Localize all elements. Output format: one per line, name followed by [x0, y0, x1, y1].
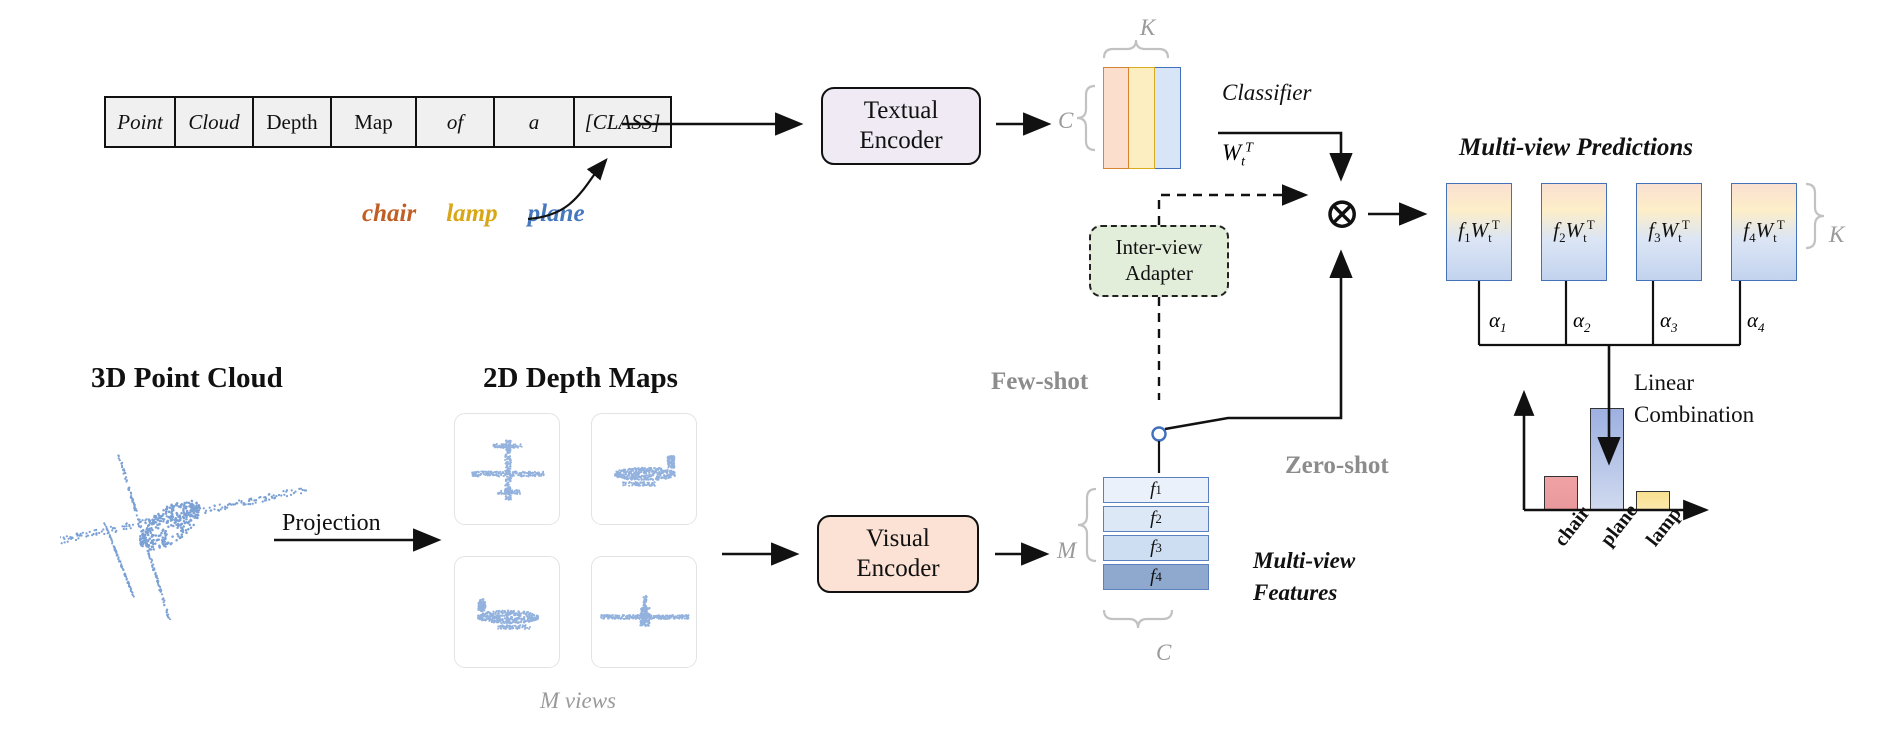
inter-view-adapter-box[interactable]: Inter-view Adapter: [1089, 225, 1229, 297]
multiview-predictions-title: Multi-view Predictions: [1459, 134, 1693, 162]
feature-row-4-sub: 4: [1155, 569, 1162, 585]
visual-encoder-line2: Encoder: [856, 554, 939, 585]
features-dim-m: M: [1057, 538, 1076, 564]
weight-sub: t: [1241, 155, 1245, 170]
textual-encoder-line2: Encoder: [859, 126, 942, 157]
prediction-bar-chart: chair plane lamp: [1524, 390, 1694, 510]
tensor-product-icon: ⊗: [1320, 192, 1364, 236]
depth-maps-heading: 2D Depth Maps: [483, 362, 678, 395]
classifier-dim-c: C: [1058, 108, 1073, 134]
prompt-token-5: a: [495, 98, 575, 146]
features-dim-c: C: [1156, 640, 1171, 666]
weight-sup: T: [1245, 140, 1253, 155]
depth-map-tile-4: [591, 556, 697, 668]
adapter-line1: Inter-view: [1115, 235, 1202, 261]
prompt-token-4: of: [417, 98, 495, 146]
prediction-box-4: f4WtT: [1731, 183, 1797, 281]
m-views-label: M views: [540, 688, 616, 714]
prediction-box-3: f3WtT: [1636, 183, 1702, 281]
pred-3-wsub: t: [1678, 231, 1682, 246]
bar-tick-lamp: lamp: [1642, 503, 1687, 551]
pred-2-w: W: [1566, 218, 1584, 242]
prediction-box-1: f1WtT: [1446, 183, 1512, 281]
features-title-line2: Features: [1253, 580, 1337, 606]
classifier-matrix: [1103, 67, 1181, 169]
visual-encoder-box[interactable]: Visual Encoder: [817, 515, 979, 593]
class-word-chair: chair: [362, 200, 416, 228]
pred-3-w: W: [1661, 218, 1679, 242]
prompt-token-table: Point Cloud Depth Map of a [CLASS]: [104, 96, 672, 148]
textual-encoder-line1: Textual: [864, 96, 939, 127]
figure-canvas: Point Cloud Depth Map of a [CLASS] chair…: [0, 0, 1882, 746]
prompt-token-1: Cloud: [176, 98, 254, 146]
depth-map-tile-1: [454, 413, 560, 525]
few-shot-label: Few-shot: [991, 368, 1088, 396]
classifier-weight-label: WtT: [1222, 140, 1253, 171]
adapter-line2: Adapter: [1125, 261, 1193, 287]
bar-chair: [1544, 476, 1578, 510]
feature-row-2-sub: 2: [1155, 511, 1162, 527]
feature-row-1: f1: [1103, 477, 1209, 503]
predictions-dim-k: K: [1829, 222, 1844, 248]
class-word-lamp: lamp: [446, 200, 497, 228]
multiview-feature-stack: f1 f2 f3 f4: [1103, 477, 1209, 593]
depth-map-tile-2: [591, 413, 697, 525]
classifier-column-lamp: [1129, 67, 1155, 169]
prompt-token-2: Depth: [254, 98, 332, 146]
feature-row-1-sub: 1: [1155, 482, 1162, 498]
feature-row-2: f2: [1103, 506, 1209, 532]
alpha-label-1: α1: [1489, 308, 1507, 336]
pred-1-w: W: [1471, 218, 1489, 242]
bar-plane: [1590, 408, 1624, 510]
pred-2-wsup: T: [1587, 217, 1595, 232]
classifier-column-plane: [1155, 67, 1181, 169]
pred-1-wsub: t: [1488, 231, 1492, 246]
class-word-list: chair lamp plane: [362, 200, 585, 228]
pred-4-w: W: [1756, 218, 1774, 242]
prediction-box-2: f2WtT: [1541, 183, 1607, 281]
feature-row-3: f3: [1103, 535, 1209, 561]
alpha-label-4: α4: [1747, 308, 1765, 336]
zero-shot-label: Zero-shot: [1285, 452, 1389, 480]
prompt-token-3: Map: [332, 98, 417, 146]
pred-4-wsub: t: [1773, 231, 1777, 246]
pred-3-wsup: T: [1682, 217, 1690, 232]
alpha-label-3: α3: [1660, 308, 1678, 336]
pred-4-wsup: T: [1777, 217, 1785, 232]
alpha-label-2: α2: [1573, 308, 1591, 336]
classifier-column-chair: [1103, 67, 1129, 169]
features-title-line1: Multi-view: [1253, 548, 1355, 574]
classifier-dim-k: K: [1140, 15, 1155, 41]
pred-2-wsub: t: [1583, 231, 1587, 246]
point-cloud-visual: [60, 430, 310, 620]
visual-encoder-line1: Visual: [866, 524, 930, 555]
depth-map-tile-3: [454, 556, 560, 668]
prompt-token-class: [CLASS]: [575, 98, 670, 146]
feature-row-3-sub: 3: [1155, 540, 1162, 556]
class-word-plane: plane: [528, 200, 585, 228]
point-cloud-heading: 3D Point Cloud: [91, 362, 283, 395]
classifier-title: Classifier: [1222, 80, 1311, 106]
feature-row-4: f4: [1103, 564, 1209, 590]
weight-symbol: W: [1222, 140, 1241, 165]
switch-pivot-icon: [1153, 428, 1166, 441]
prompt-token-0: Point: [106, 98, 176, 146]
pred-1-wsup: T: [1492, 217, 1500, 232]
textual-encoder-box[interactable]: Textual Encoder: [821, 87, 981, 165]
